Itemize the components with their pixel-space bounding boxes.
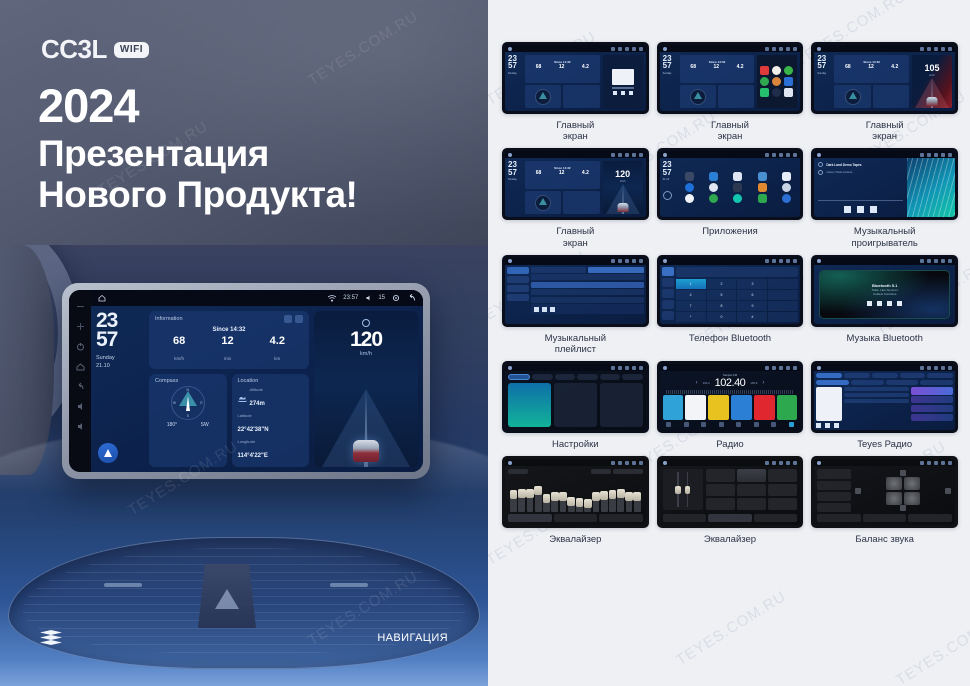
preset-4[interactable] [731, 395, 752, 420]
playlist-tracks[interactable] [531, 267, 644, 322]
settings-cards[interactable] [508, 383, 643, 427]
app-icon-radio[interactable] [782, 194, 791, 203]
hero-footer: НАВИГАЦИЯ [0, 606, 488, 686]
previous-icon[interactable] [534, 307, 539, 312]
driving-view-widget[interactable]: 120 km/h [314, 311, 418, 467]
eq-band[interactable] [626, 492, 633, 513]
volume-down-icon[interactable] [76, 398, 85, 407]
logo-text: CC3L [41, 34, 107, 65]
thumbnail-caption: Teyes Радио [857, 439, 912, 450]
effect-button[interactable] [737, 469, 766, 481]
equalizer-footer[interactable] [663, 514, 798, 522]
thumbnail-caption: Настройки [552, 439, 599, 450]
screenshot-thumbnail[interactable] [502, 361, 649, 433]
gallery-item[interactable]: Музыкальный плейлист [502, 255, 649, 355]
effect-button[interactable] [768, 469, 797, 481]
frequency-scale[interactable] [666, 390, 795, 394]
clock-widget[interactable]: 23 57 Sunday 21.10 [96, 311, 144, 467]
screenshot-thumbnail[interactable] [502, 255, 649, 327]
blank-key [768, 312, 798, 322]
latitude-label: Latitude [238, 413, 304, 418]
home-icon[interactable] [76, 358, 85, 367]
key-7[interactable]: 7 [676, 301, 706, 311]
mountain-altitude-icon [238, 395, 247, 402]
app-icon-camera[interactable] [782, 172, 791, 181]
key-5[interactable]: 5 [707, 290, 737, 300]
location-card[interactable]: Location Altitude 274m [232, 374, 310, 467]
equalizer-sliders[interactable] [508, 476, 643, 512]
gallery-item[interactable]: 2357Sunday Since 14:32 68124.2 Главный э… [502, 42, 649, 142]
eq-band[interactable] [510, 490, 517, 512]
gallery-item[interactable]: Nanjian FM ‹ 100.2 102.40 105.8 › [657, 361, 804, 450]
stat-distance: 4.2km [270, 336, 285, 365]
speaker-rear-left[interactable] [886, 492, 902, 505]
pause-icon[interactable] [857, 206, 864, 213]
key-1[interactable]: 1 [676, 279, 706, 289]
screenshot-thumbnail[interactable]: Bluetooth 5.1 Toals, Like Summer Coldest… [811, 255, 958, 327]
screens-gallery-panel: TEYES.COM.RU TEYES.COM.RU TEYES.COM.RU T… [488, 0, 970, 686]
fader[interactable] [687, 472, 689, 507]
key-9[interactable]: 9 [737, 301, 767, 311]
previous-icon[interactable] [867, 301, 872, 306]
key-6[interactable]: 6 [737, 290, 767, 300]
compass-direction: SW [201, 422, 209, 428]
speaker-front-right[interactable] [904, 477, 920, 490]
back-arrow-icon[interactable] [407, 294, 416, 302]
watermark-text: TEYES.COM.RU [673, 588, 789, 669]
screenshot-thumbnail[interactable]: 2357Sunday Since 14:32 68124.2 [657, 42, 804, 114]
effect-button[interactable] [768, 484, 797, 496]
tab-wlan[interactable] [508, 374, 530, 380]
list-item[interactable] [911, 396, 953, 403]
navigation-arrow-icon[interactable] [98, 443, 118, 463]
thumbnail-caption: Приложения [702, 226, 758, 237]
wifi-badge: WIFI [114, 42, 149, 58]
thumbnail-caption: Главный экран [556, 120, 594, 142]
backspace-icon[interactable] [768, 290, 798, 300]
balance-pad[interactable] [854, 469, 952, 512]
wifi-card[interactable] [508, 383, 551, 427]
app-icon-musicplayer[interactable] [733, 194, 742, 203]
eq-band[interactable] [601, 491, 608, 513]
location-title: Location [238, 378, 259, 384]
app-icon[interactable] [685, 172, 694, 181]
thumbnail-caption: Телефон Bluetooth [689, 333, 771, 344]
back-icon[interactable] [663, 191, 672, 200]
dashboard-pillar [0, 245, 54, 475]
altitude-label: Altitude [250, 387, 265, 392]
play-pause-icon[interactable] [877, 301, 882, 306]
gallery-item[interactable]: Эквалайзер [657, 456, 804, 545]
compass-title: Compass [155, 378, 178, 384]
next-station-icon[interactable]: › [762, 380, 764, 386]
wifi-icon [328, 295, 336, 302]
tab-general[interactable] [600, 374, 620, 380]
hero-title-block: 2024 Презентация Нового Продукта! [38, 80, 357, 216]
stop-icon[interactable] [887, 301, 892, 306]
arrow-up-icon[interactable] [900, 470, 906, 476]
eq-band[interactable] [634, 492, 641, 512]
progress-bar[interactable] [818, 200, 903, 201]
effect-button[interactable] [737, 498, 766, 510]
hero-line-2: Нового Продукта! [38, 174, 357, 215]
thumbnail-caption: Эквалайзер [704, 534, 756, 545]
volume-icon [365, 295, 371, 301]
fader-sliders[interactable] [663, 469, 703, 510]
head-unit-device: 23:57 15 23 57 Sunday 21.10 [62, 283, 430, 479]
dial-pad[interactable]: 1 2 3 4 5 6 7 8 9 * [676, 279, 799, 322]
gallery-item[interactable]: 2357Sunday Since 14:32 68124.2 [657, 42, 804, 142]
clock-weekday: Sunday [96, 354, 144, 362]
thumb-speed-value: 105 [912, 63, 952, 73]
tab-sound[interactable] [555, 374, 575, 380]
vent-slot-right [330, 583, 368, 587]
next-icon[interactable] [550, 307, 555, 312]
home-icon[interactable] [98, 294, 106, 302]
key-3[interactable]: 3 [737, 279, 767, 289]
screenshot-thumbnail[interactable] [502, 456, 649, 528]
longitude-label: Longitude [238, 439, 304, 444]
preset-label [508, 469, 528, 474]
next-icon[interactable] [897, 301, 902, 306]
tab-system[interactable] [577, 374, 597, 380]
effect-button[interactable] [768, 498, 797, 510]
minus-icon[interactable] [76, 298, 85, 307]
gallery-item[interactable]: 2357Sunday Since 14:32 68124.2 120 km/h … [502, 148, 649, 248]
speed-gauge-icon [362, 319, 370, 327]
gallery-grid: 2357Sunday Since 14:32 68124.2 Главный э… [488, 0, 970, 558]
previous-icon[interactable] [844, 206, 851, 213]
eq-band[interactable] [518, 489, 525, 513]
information-title: Information [155, 316, 183, 322]
arrow-down-icon[interactable] [900, 505, 906, 511]
list-item[interactable] [531, 289, 644, 295]
bt-playback-controls[interactable] [867, 301, 902, 306]
app-icon-gallery[interactable] [782, 183, 791, 192]
gallery-item[interactable]: Эквалайзер [502, 456, 649, 545]
thumbnail-caption: Главный экран [711, 120, 749, 142]
dialpad-icon[interactable] [662, 267, 674, 276]
track-artist: Galaxy Shake Endless [826, 171, 852, 174]
phone-sidebar[interactable] [662, 267, 674, 322]
mini-player[interactable] [531, 304, 644, 314]
call-icon[interactable] [768, 301, 798, 311]
eq-band[interactable] [568, 497, 575, 513]
eq-band[interactable] [617, 489, 624, 513]
gallery-item[interactable]: Teyes Радио [811, 361, 958, 450]
preset-5[interactable] [754, 395, 775, 420]
screenshot-thumbnail[interactable]: 235721.10 [657, 148, 804, 220]
album-art [816, 387, 842, 421]
list-item[interactable] [911, 387, 953, 394]
stat-time: 12min [221, 336, 233, 365]
prev-station-icon[interactable]: ‹ [696, 380, 698, 386]
key-hash[interactable]: # [737, 312, 767, 322]
trip-stats: 68km/h 12min 4.2km [155, 336, 303, 365]
head-unit-screen[interactable]: 23:57 15 23 57 Sunday 21.10 [91, 290, 423, 472]
power-icon[interactable] [76, 338, 85, 347]
altitude-value: 274m [250, 401, 265, 407]
eq-toggle[interactable] [591, 469, 611, 474]
list-item[interactable] [817, 503, 851, 512]
thumbnail-caption: Главный экран [556, 226, 594, 248]
app-icon-clock[interactable] [709, 183, 718, 192]
sound-effect-buttons[interactable] [706, 469, 798, 510]
refresh-chip-icon[interactable] [295, 315, 303, 323]
status-volume-level: 15 [378, 295, 385, 301]
teyes-radio-tabs[interactable] [816, 373, 953, 378]
screenshot-thumbnail[interactable]: 2357Sunday Since 14:32 68124.2 120 km/h [502, 148, 649, 220]
navigation-label: НАВИГАЦИЯ [377, 632, 448, 644]
radio-freq-left: 100.2 [703, 381, 710, 385]
app-icon-recorder[interactable] [733, 183, 742, 192]
playlist-sidebar[interactable] [507, 267, 529, 322]
contacts-icon[interactable] [662, 278, 674, 287]
screenshot-thumbnail[interactable]: Nanjian FM ‹ 100.2 102.40 105.8 › [657, 361, 804, 433]
radio-freq-right: 105.8 [750, 381, 757, 385]
watermark-text: TEYES.COM.RU [893, 608, 970, 686]
stat-speed: 68km/h [173, 336, 185, 365]
screenshot-thumbnail[interactable]: 2357Sunday Since 14:32 68124.2 [502, 42, 649, 114]
speed-value: 120 [314, 328, 418, 352]
favorites-icon[interactable] [662, 289, 674, 298]
thumbnail-caption: Баланс звука [855, 534, 914, 545]
preset-2[interactable] [685, 395, 706, 420]
gallery-item[interactable]: 1 2 3 4 5 6 7 8 9 * [657, 255, 804, 355]
screenshot-thumbnail[interactable] [657, 456, 804, 528]
key-8[interactable]: 8 [707, 301, 737, 311]
hero-year: 2024 [38, 80, 357, 133]
latitude-value: 22°42'38"N [238, 427, 269, 433]
app-icon-maps[interactable] [709, 194, 718, 203]
thumb-speed-value: 120 [603, 169, 643, 179]
gear-icon[interactable] [392, 294, 400, 302]
previous-icon[interactable] [816, 423, 821, 428]
more-card[interactable] [600, 383, 643, 427]
radio-presets[interactable] [662, 395, 799, 420]
head-unit-side-buttons[interactable] [69, 290, 91, 472]
station-list[interactable] [911, 387, 953, 421]
gallery-item[interactable]: Баланс звука [811, 456, 958, 545]
list-item[interactable] [911, 405, 953, 412]
balance-footer[interactable] [817, 514, 952, 522]
key-star[interactable]: * [676, 312, 706, 322]
thumbnail-caption: Радио [716, 439, 743, 450]
clock-minutes: 57 [96, 330, 144, 349]
carplay-card[interactable] [554, 383, 597, 427]
pause-icon[interactable] [542, 307, 547, 312]
tab-display[interactable] [532, 374, 552, 380]
list-item[interactable] [817, 492, 851, 501]
speaker-front-left[interactable] [886, 477, 902, 490]
arrow-left-icon[interactable] [855, 488, 861, 494]
speaker-rear-right[interactable] [904, 492, 920, 505]
back-icon[interactable] [76, 378, 85, 387]
radio-frequency: 102.40 [715, 377, 746, 389]
app-grid[interactable] [679, 161, 798, 214]
trip-since-label: Since 14:32 [155, 327, 303, 333]
screenshot-thumbnail[interactable] [811, 456, 958, 528]
list-item[interactable] [911, 414, 953, 421]
playback-controls[interactable] [818, 206, 903, 213]
hero-line-1: Презентация [38, 133, 357, 174]
eq-band[interactable] [527, 489, 534, 513]
thumbnail-caption: Музыкальный проигрыватель [852, 226, 918, 248]
screenshot-thumbnail[interactable]: 2357Sunday Since 14:32 68124.2 105 km/h [811, 42, 958, 114]
app-icon-private[interactable] [685, 194, 694, 203]
eq-band[interactable] [535, 486, 542, 513]
vent-slot-left [104, 583, 142, 587]
status-bar: 23:57 15 [91, 290, 423, 306]
settings-tabs[interactable] [508, 374, 643, 380]
compass-dial: N E S W [171, 386, 205, 420]
screenshot-thumbnail[interactable]: Dark Land Demo Tapes Galaxy Shake Endles… [811, 148, 958, 220]
eq-preset-select[interactable] [613, 469, 643, 474]
hero-panel: TEYES.COM.RU TEYES.COM.RU TEYES.COM.RU T… [0, 0, 488, 686]
bt-track-artist: Coldest Sunshine [871, 292, 897, 296]
settings-icon[interactable] [662, 311, 674, 320]
equalizer-footer[interactable] [508, 514, 643, 522]
longitude-value: 114°4'22"E [238, 453, 268, 459]
preset-1[interactable] [663, 395, 684, 420]
speed-unit: km/h [314, 351, 418, 357]
track-title: Dark Land Demo Tapes [826, 163, 861, 167]
playback-controls[interactable] [816, 423, 953, 428]
gallery-item[interactable]: 235721.10 [657, 148, 804, 248]
thumbnail-caption: Музыка Bluetooth [846, 333, 922, 344]
tab-about[interactable] [622, 374, 642, 380]
key-4[interactable]: 4 [676, 290, 706, 300]
next-icon[interactable] [834, 423, 839, 428]
fader[interactable] [677, 472, 679, 507]
arrow-right-icon[interactable] [945, 488, 951, 494]
effect-button[interactable] [706, 498, 735, 510]
audio-visualizer [907, 158, 955, 217]
volume-up-icon[interactable] [76, 418, 85, 427]
gallery-item[interactable]: Dark Land Demo Tapes Galaxy Shake Endles… [811, 148, 958, 248]
list-item[interactable] [531, 282, 644, 288]
stop-icon[interactable] [825, 423, 830, 428]
app-icon-music[interactable] [733, 172, 742, 181]
eq-band[interactable] [593, 492, 600, 512]
thumbnail-caption: Главный экран [866, 120, 904, 142]
eq-band[interactable] [560, 492, 567, 513]
eq-band[interactable] [543, 494, 550, 512]
list-item[interactable] [817, 481, 851, 490]
clock-date: 21.10 [96, 362, 144, 370]
radio-toolbar[interactable] [662, 420, 799, 428]
eq-band[interactable] [584, 499, 591, 513]
call-log-icon[interactable] [662, 300, 674, 309]
key-0[interactable]: 0 [707, 312, 737, 322]
effect-button[interactable] [706, 469, 735, 481]
screenshot-thumbnail[interactable]: 1 2 3 4 5 6 7 8 9 * [657, 255, 804, 327]
app-icon-calculator[interactable] [758, 172, 767, 181]
eq-band[interactable] [576, 498, 583, 512]
effect-button[interactable] [706, 484, 735, 496]
eq-band[interactable] [609, 490, 616, 512]
layers-stack-icon [40, 630, 62, 646]
effect-button[interactable] [737, 484, 766, 496]
plus-icon[interactable] [76, 318, 85, 327]
gallery-item[interactable]: Bluetooth 5.1 Toals, Like Summer Coldest… [811, 255, 958, 355]
thumb-clock-minutes: 57 [508, 62, 522, 69]
app-icon-filemanager[interactable] [758, 183, 767, 192]
list-item[interactable] [531, 274, 644, 280]
status-clock: 23:57 [343, 295, 358, 301]
phone-number-input[interactable] [676, 267, 799, 277]
key-2[interactable]: 2 [707, 279, 737, 289]
eq-band[interactable] [551, 492, 558, 513]
settings-chip-icon[interactable] [284, 315, 292, 323]
preset-3[interactable] [708, 395, 729, 420]
teyes-radio-subtabs[interactable] [816, 380, 953, 385]
preset-6[interactable] [777, 395, 798, 420]
thumbnail-caption: Музыкальный плейлист [545, 333, 606, 355]
gallery-item[interactable]: Настройки [502, 361, 649, 450]
thumbnail-caption: Эквалайзер [549, 534, 601, 545]
screenshot-thumbnail[interactable] [811, 361, 958, 433]
product-logo: CC3L WIFI [41, 34, 149, 65]
gallery-item[interactable]: 2357Sunday Since 14:32 68124.2 105 km/h … [811, 42, 958, 142]
app-icon-bluetooth[interactable] [709, 172, 718, 181]
star-favorite-icon[interactable] [768, 279, 798, 289]
information-card[interactable]: Information Since 14:32 68km/h 12min 4.2… [149, 311, 309, 369]
list-item[interactable] [531, 297, 644, 303]
list-item[interactable] [817, 469, 851, 478]
compass-heading: 180° [167, 422, 177, 428]
preset-list[interactable] [817, 469, 851, 512]
app-icon-chrome[interactable] [685, 183, 694, 192]
car-3d-model [353, 440, 379, 462]
next-icon[interactable] [870, 206, 877, 213]
app-icon-playstore[interactable] [758, 194, 767, 203]
compass-card[interactable]: Compass N E S W 180° [149, 374, 227, 467]
